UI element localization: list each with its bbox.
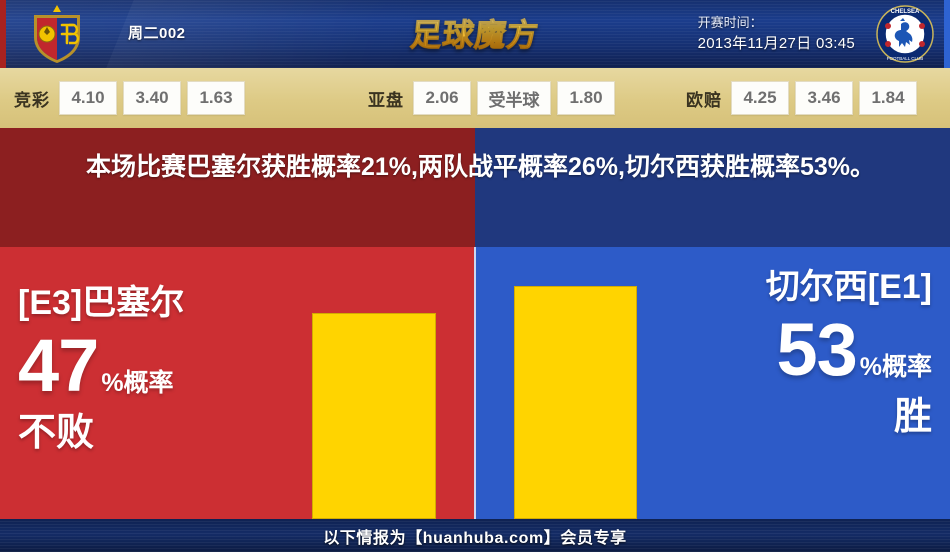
- odds-cell-draw[interactable]: 3.40: [123, 81, 181, 115]
- home-team-block: [E3]巴塞尔 47 %概率 不败: [18, 283, 298, 455]
- odds-cell-handicap[interactable]: 受半球: [477, 81, 551, 115]
- odds-cell-away[interactable]: 1.84: [859, 81, 917, 115]
- probability-chart: [E3]巴塞尔 47 %概率 不败 切尔西[E1] 53 %概率 胜: [0, 247, 950, 519]
- kickoff-label: 开赛时间：: [698, 12, 855, 33]
- away-team-name: 切尔西[E1]: [642, 267, 932, 307]
- footer-text: 以下情报为【huanhuba.com】会员专享: [323, 524, 627, 548]
- summary-text: 本场比赛巴塞尔获胜概率21%,两队战平概率26%,切尔西获胜概率53%。: [86, 148, 876, 187]
- away-probability-bar: [514, 286, 637, 519]
- svg-text:FOOTBALL CLUB: FOOTBALL CLUB: [887, 56, 924, 61]
- away-percent-unit: %概率: [860, 347, 932, 383]
- odds-cell-home[interactable]: 4.25: [731, 81, 789, 115]
- odds-cell-home[interactable]: 2.06: [413, 81, 471, 115]
- home-percent-value: 47: [18, 327, 98, 405]
- home-percent-row: 47 %概率: [18, 327, 298, 405]
- svg-text:CHELSEA: CHELSEA: [891, 9, 920, 15]
- match-prediction-card: 周二002 足球魔方 开赛时间： 2013年11月27日 03:45 CHELS…: [0, 0, 950, 552]
- home-verdict: 不败: [18, 411, 298, 455]
- summary-banner: 本场比赛巴塞尔获胜概率21%,两队战平概率26%,切尔西获胜概率53%。: [0, 128, 950, 247]
- away-team-block: 切尔西[E1] 53 %概率 胜: [642, 267, 932, 439]
- odds-bar: 竞彩 4.10 3.40 1.63 亚盘 2.06 受半球 1.80 欧赔 4.…: [0, 68, 950, 128]
- summary-half-red: [0, 128, 475, 247]
- away-percent-value: 53: [776, 311, 856, 389]
- odds-cell-home[interactable]: 4.10: [59, 81, 117, 115]
- odds-group-asian-handicap: 亚盘 2.06 受半球 1.80: [368, 81, 621, 115]
- summary-half-blue: [475, 128, 950, 247]
- home-probability-bar: [312, 313, 436, 519]
- odds-group-jingcai: 竞彩 4.10 3.40 1.63: [14, 81, 251, 115]
- home-team-name: [E3]巴塞尔: [18, 283, 298, 323]
- panel-divider: [474, 247, 476, 519]
- odds-group-label: 欧赔: [686, 86, 722, 111]
- header-bar: 周二002 足球魔方 开赛时间： 2013年11月27日 03:45 CHELS…: [0, 0, 950, 68]
- odds-group-label: 亚盘: [368, 86, 404, 111]
- odds-group-european: 欧赔 4.25 3.46 1.84: [686, 81, 923, 115]
- home-percent-unit: %概率: [101, 363, 173, 399]
- away-percent-row: 53 %概率: [642, 311, 932, 389]
- odds-group-label: 竞彩: [14, 86, 50, 111]
- odds-cell-away[interactable]: 1.80: [557, 81, 615, 115]
- odds-cell-away[interactable]: 1.63: [187, 81, 245, 115]
- away-team-crest-icon: CHELSEA FOOTBALL CLUB: [874, 4, 936, 64]
- footer-bar: 以下情报为【huanhuba.com】会员专享: [0, 519, 950, 552]
- kickoff-time: 2013年11月27日 03:45: [698, 33, 855, 54]
- away-verdict: 胜: [642, 395, 932, 439]
- odds-cell-draw[interactable]: 3.46: [795, 81, 853, 115]
- kickoff-info: 开赛时间： 2013年11月27日 03:45: [698, 12, 855, 54]
